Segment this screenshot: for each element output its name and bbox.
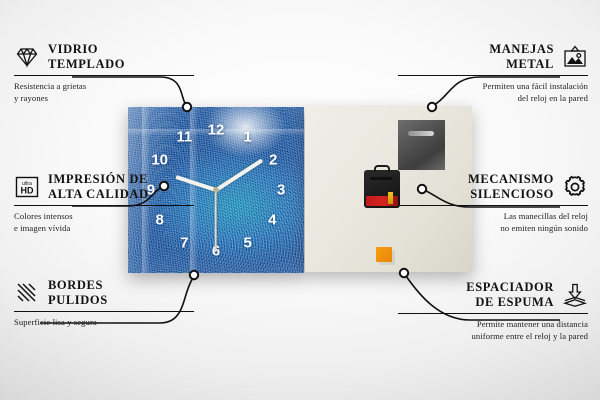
callout-description: Superficie lisa y segura xyxy=(14,316,194,328)
clock-numeral: 10 xyxy=(151,153,168,168)
mechanism-hook xyxy=(374,165,390,172)
hanger-slot xyxy=(408,131,434,136)
callout-title: VIDRIO TEMPLADO xyxy=(48,42,125,72)
callout-title: MANEJAS METAL xyxy=(489,42,554,72)
clock-numeral: 5 xyxy=(244,236,252,251)
callout-title: IMPRESIÓN DE ALTA CALIDAD xyxy=(48,172,149,202)
callout-rule xyxy=(398,313,588,314)
clock-numeral: 3 xyxy=(277,183,285,198)
metal-hanger-plate xyxy=(398,120,445,170)
clock-hand-cap xyxy=(213,187,219,193)
clock-numeral: 1 xyxy=(244,129,252,144)
hanging-picture-icon xyxy=(562,44,588,70)
clock-second-hand xyxy=(215,190,217,252)
callout-rule xyxy=(14,75,194,76)
clock-mechanism xyxy=(364,170,400,208)
callout-description: Permiten una fácil instalación del reloj… xyxy=(398,80,588,104)
callout-rule xyxy=(398,75,588,76)
callout-description: Colores intensos e imagen vívida xyxy=(14,210,194,234)
callout-description: Resistencia a grietas y rayones xyxy=(14,80,194,104)
callout-title: MECANISMO SILENCIOSO xyxy=(468,172,554,202)
clock-numeral: 2 xyxy=(269,153,277,168)
ultra-hd-icon: ultra HD xyxy=(14,174,40,200)
callout-title: BORDES PULIDOS xyxy=(48,278,108,308)
foam-spacer-icon xyxy=(562,282,588,308)
foam-spacer-square xyxy=(376,247,392,262)
callout-manejas-metal: MANEJAS METAL Permiten una fácil instala… xyxy=(398,42,588,104)
callout-rule xyxy=(14,205,194,206)
clock-numeral: 7 xyxy=(180,236,188,251)
callout-espaciador-espuma: ESPACIADOR DE ESPUMA Permite mantener un… xyxy=(398,280,588,342)
callout-mecanismo-silencioso: MECANISMO SILENCIOSO Las manecillas del … xyxy=(398,172,588,234)
svg-text:HD: HD xyxy=(21,185,34,195)
callout-vidrio-templado: VIDRIO TEMPLADO Resistencia a grietas y … xyxy=(14,42,194,104)
callout-rule xyxy=(14,311,194,312)
callout-bordes-pulidos: BORDES PULIDOS Superficie lisa y segura xyxy=(14,278,194,328)
clock-numeral: 11 xyxy=(176,129,192,144)
gear-icon xyxy=(562,174,588,200)
callout-description: Las manecillas del reloj no emiten ningú… xyxy=(398,210,588,234)
polished-edge-icon xyxy=(14,280,40,306)
diamond-icon xyxy=(14,44,40,70)
clock-numeral: 12 xyxy=(208,123,225,138)
callout-title: ESPACIADOR DE ESPUMA xyxy=(466,280,554,310)
mechanism-red-label xyxy=(366,196,398,206)
clock-numeral: 4 xyxy=(268,212,276,227)
callout-impresion-alta-calidad: ultra HD IMPRESIÓN DE ALTA CALIDAD Color… xyxy=(14,172,194,234)
infographic-stage: 12 1 2 3 4 5 6 7 8 9 10 11 xyxy=(0,0,600,400)
mechanism-slit xyxy=(370,177,392,180)
callout-rule xyxy=(398,205,588,206)
callout-description: Permite mantener una distancia uniforme … xyxy=(398,318,588,342)
